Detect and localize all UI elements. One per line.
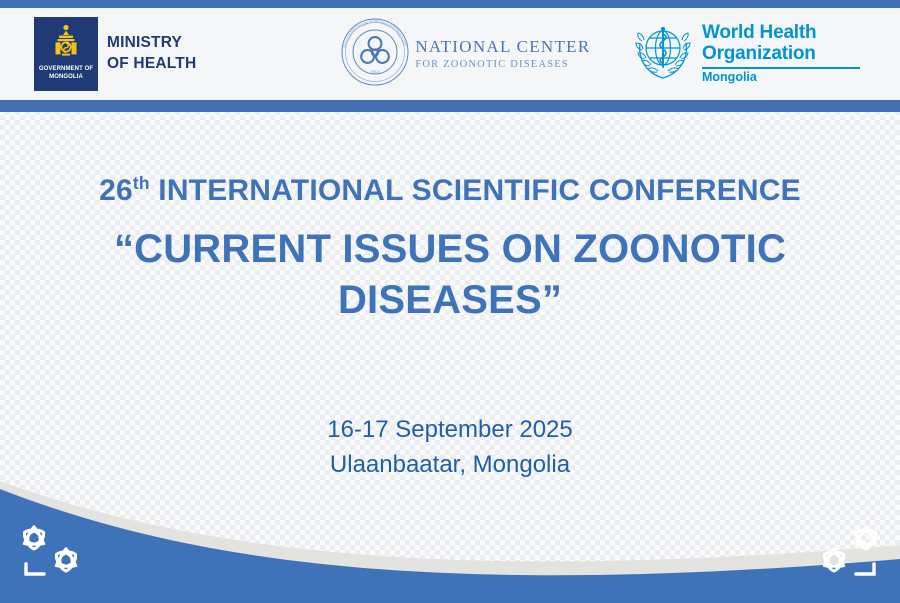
- emblem-caption: GOVERNMENT OF MONGOLIA: [39, 65, 93, 81]
- conference-title-slide: GOVERNMENT OF MONGOLIA MINISTRY OF HEALT…: [0, 0, 900, 603]
- national-center-logo: 1951 NATIONAL CENTER FOR ZOONOTIC DISEAS…: [339, 16, 590, 93]
- emblem-caption-line2: MONGOLIA: [49, 74, 83, 80]
- header-divider-bar: [0, 100, 900, 112]
- ministry-of-health-logo: GOVERNMENT OF MONGOLIA MINISTRY OF HEALT…: [34, 17, 196, 91]
- biohazard-seal-icon: 1951 NATIONAL CENTER FOR ZOONOTIC DISEAS…: [339, 16, 411, 93]
- top-accent-bar: [0, 0, 900, 8]
- who-line1: World Health: [702, 23, 860, 44]
- conference-line-text: INTERNATIONAL SCIENTIFIC CONFERENCE: [150, 174, 801, 207]
- conference-ordinal-suffix: th: [133, 173, 150, 193]
- mongolia-government-emblem: GOVERNMENT OF MONGOLIA: [34, 17, 98, 91]
- who-country: Mongolia: [702, 71, 860, 85]
- who-logo: World Health Organization Mongolia: [632, 21, 860, 88]
- national-center-name: NATIONAL CENTER FOR ZOONOTIC DISEASES: [415, 37, 590, 71]
- ministry-of-health-name: MINISTRY OF HEALTH: [107, 33, 196, 75]
- seal-year: 1951: [370, 71, 381, 76]
- celtic-triquetra-knot-icon-left: [14, 520, 90, 587]
- emblem-caption-line1: GOVERNMENT OF: [39, 66, 93, 72]
- who-underline: [702, 67, 860, 69]
- national-center-line2: FOR ZOONOTIC DISEASES: [415, 59, 590, 71]
- national-center-line1: NATIONAL CENTER: [415, 37, 590, 57]
- who-rod-of-asclepius-icon: [632, 21, 694, 88]
- page-title: “CURRENT ISSUES ON ZOONOTIC DISEASES”: [60, 224, 840, 326]
- mongolia-soyombo-emblem-icon: [46, 22, 86, 62]
- bottom-wave-shape: [0, 453, 900, 603]
- conference-number: 26: [99, 174, 133, 207]
- who-line2: Organization: [702, 44, 860, 65]
- conference-date: 16-17 September 2025: [0, 412, 900, 447]
- who-name: World Health Organization Mongolia: [702, 23, 860, 85]
- celtic-triquetra-knot-icon-right: [810, 520, 886, 587]
- svg-text:CENTER FOR: CENTER FOR: [352, 16, 378, 30]
- logo-row: GOVERNMENT OF MONGOLIA MINISTRY OF HEALT…: [0, 8, 900, 100]
- conference-number-line: 26th INTERNATIONAL SCIENTIFIC CONFERENCE: [0, 174, 900, 208]
